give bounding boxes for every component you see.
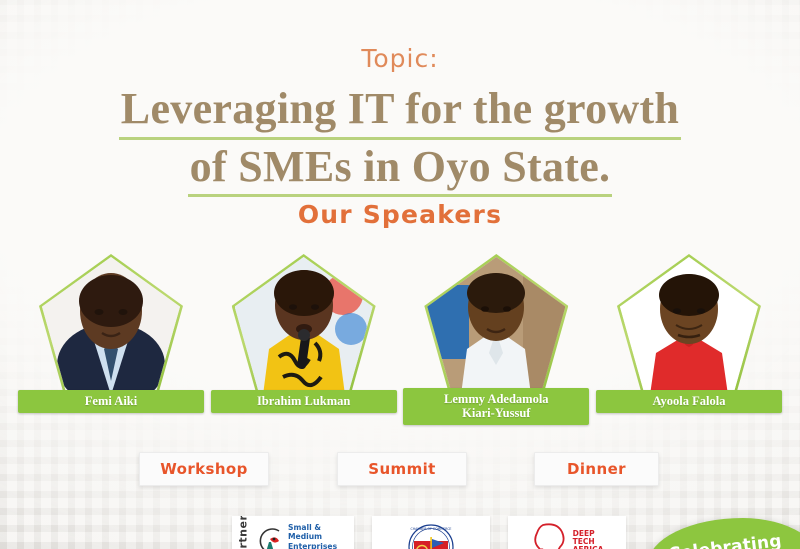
title-line-2: of SMEs in Oyo State. [0, 140, 800, 198]
speaker-card-1[interactable]: Femi Aiki [18, 252, 204, 427]
speaker-name-banner-2: Ibrahim Lukman [211, 390, 397, 413]
smedan-icon [254, 525, 284, 549]
speaker-photo-4 [620, 257, 758, 395]
speaker-name-3: Lemmy Adedamola [407, 392, 585, 406]
speaker-name-4: Ayoola Falola [600, 394, 778, 408]
smedan-text: Small & Medium Enterprises Development [288, 523, 354, 549]
avatar [42, 257, 180, 395]
title-line-1: Leveraging IT for the growth [0, 82, 800, 140]
deeptech-icon: DEEP TECH AFRICA [508, 516, 626, 549]
speaker-name-3-line2: Kiari-Yussuf [407, 406, 585, 420]
smedan-logo-card[interactable]: rtner Small & Medium Enterprises Develop… [232, 516, 354, 549]
title-line-2-text: of SMEs in Oyo State. [188, 140, 613, 198]
speaker-card-2[interactable]: Ibrahim Lukman [211, 252, 397, 427]
chamber-of-commerce-logo-card[interactable]: CHAMBER OF COMMERCE [372, 516, 490, 549]
speaker-name-2: Ibrahim Lukman [215, 394, 393, 408]
smedan-line-1: Small & Medium [288, 523, 354, 542]
speaker-card-4[interactable]: Ayoola Falola [596, 252, 782, 427]
celebrating-badge: Celebrating [648, 518, 800, 549]
avatar [427, 257, 565, 395]
workshop-button[interactable]: Workshop [139, 452, 269, 486]
summit-button[interactable]: Summit [337, 452, 467, 486]
speaker-card-3[interactable]: Lemmy Adedamola Kiari-Yussuf [403, 252, 589, 427]
page-title: Leveraging IT for the growth of SMEs in … [0, 82, 800, 197]
title-line-1-text: Leveraging IT for the growth [119, 82, 681, 140]
smedan-line-2: Enterprises [288, 542, 354, 549]
speaker-photo-2 [235, 257, 373, 395]
avatar [620, 257, 758, 395]
speakers-row: Femi Aiki [18, 252, 782, 427]
chamber-seal-icon: CHAMBER OF COMMERCE [372, 516, 490, 549]
speaker-name-banner-1: Femi Aiki [18, 390, 204, 413]
partner-logos: rtner Small & Medium Enterprises Develop… [232, 516, 626, 549]
speaker-name-banner-3: Lemmy Adedamola Kiari-Yussuf [403, 388, 589, 425]
partner-vertical-label: rtner [237, 516, 250, 549]
poster-stage: Topic: Leveraging IT for the growth of S… [0, 0, 800, 549]
deeptech-text: DEEP TECH AFRICA [573, 530, 604, 549]
svg-text:CHAMBER OF COMMERCE: CHAMBER OF COMMERCE [411, 527, 452, 531]
dinner-button[interactable]: Dinner [534, 452, 659, 486]
our-speakers-heading: Our Speakers [0, 200, 800, 229]
speaker-photo-3 [427, 257, 565, 395]
speaker-name-banner-4: Ayoola Falola [596, 390, 782, 413]
speaker-photo-1 [42, 257, 180, 395]
topic-label: Topic: [0, 44, 800, 73]
deeptech-africa-logo-card[interactable]: DEEP TECH AFRICA [508, 516, 626, 549]
session-buttons: Workshop Summit Dinner [0, 452, 800, 486]
avatar [235, 257, 373, 395]
speaker-name-1: Femi Aiki [22, 394, 200, 408]
